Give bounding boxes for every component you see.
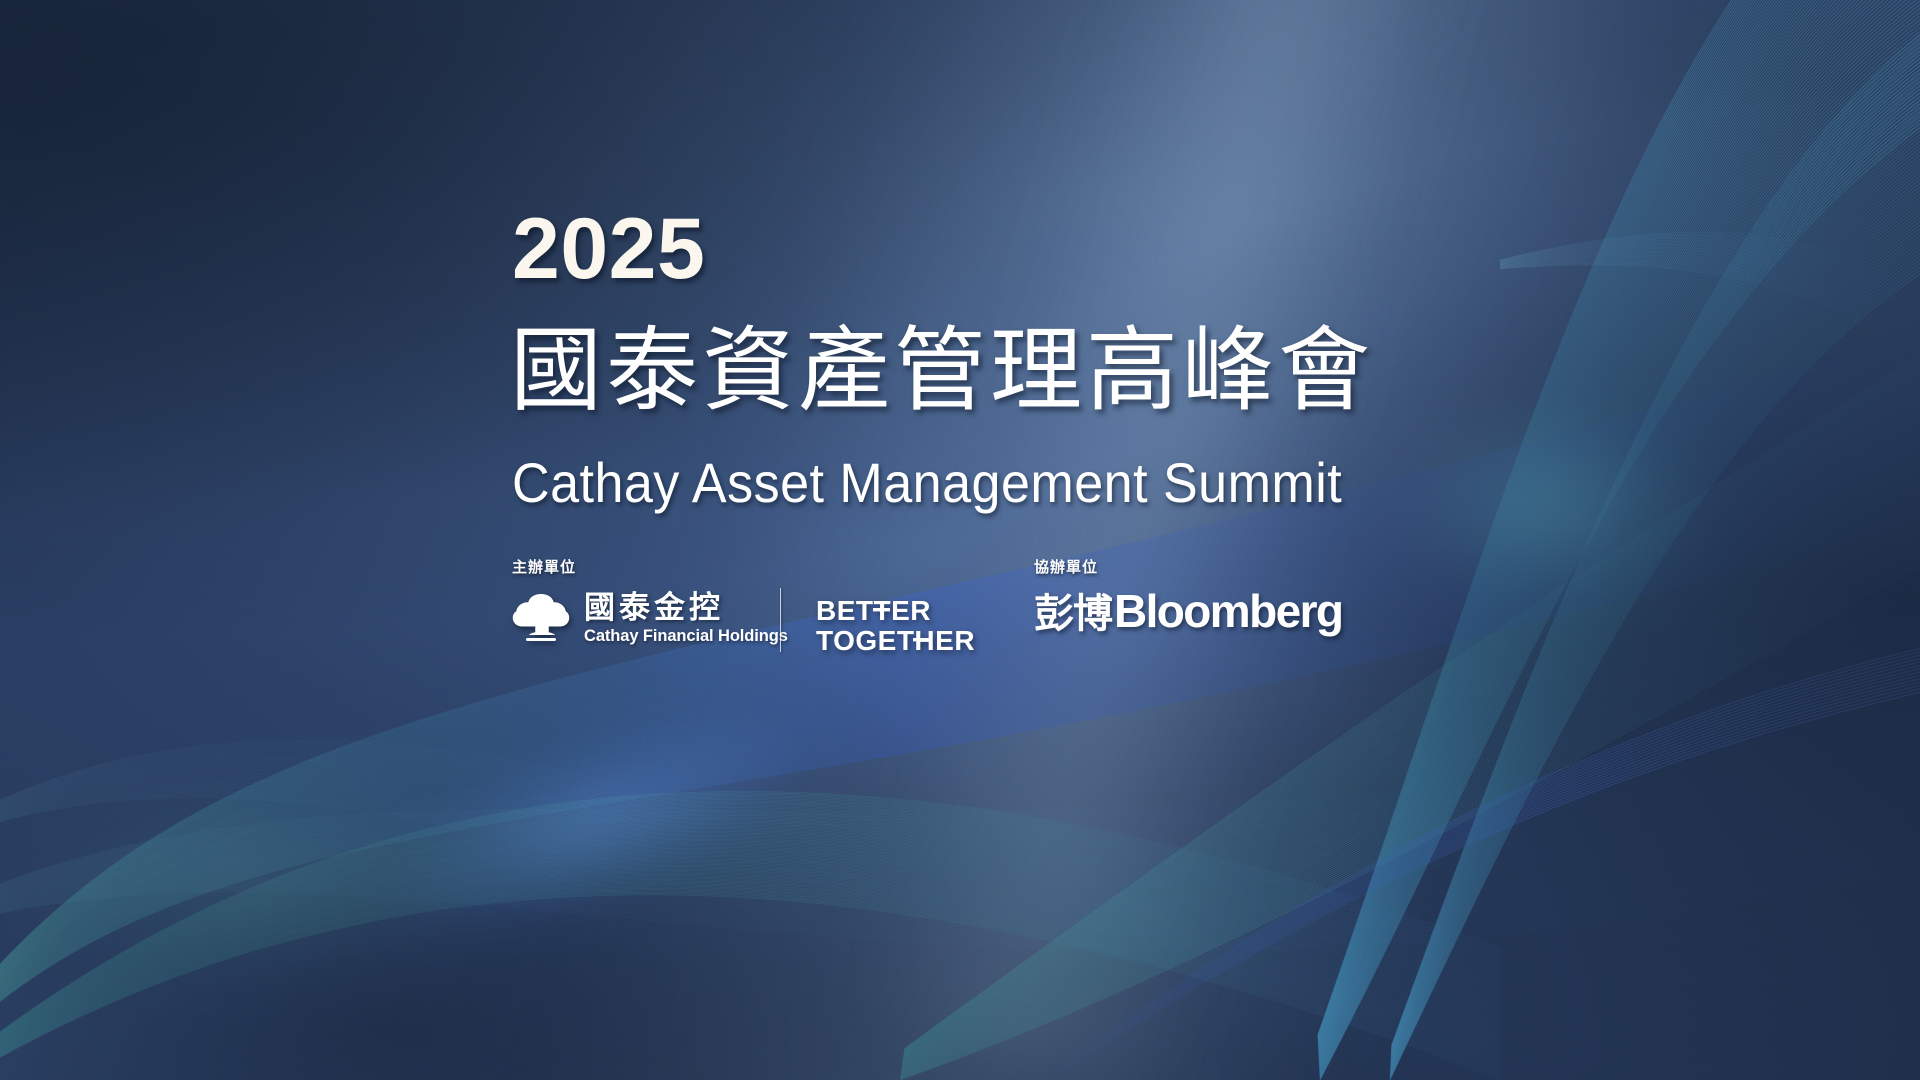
organizer-logos-row: 國泰金控 Cathay Financial Holdings BETTER TO… <box>512 592 1412 662</box>
organizer-labels: 主辦單位 協辦單位 <box>512 556 1412 578</box>
poster-content: 2025 國泰資產管理高峰會 Cathay Asset Management S… <box>512 0 1512 1080</box>
coorganizer-label: 協辦單位 <box>1034 556 1098 577</box>
bloomberg-name-english: Bloomberg <box>1114 588 1342 634</box>
poster-canvas: 2025 國泰資產管理高峰會 Cathay Asset Management S… <box>0 0 1920 1080</box>
teal-glow-left <box>0 756 576 1015</box>
bloomberg-logo: 彭博 Bloomberg <box>1034 588 1342 634</box>
better-together-slogan: BETTER TOGETHER <box>816 595 992 657</box>
organizers-section: 主辦單位 協辦單位 國泰金控 Cathay Financial Holdings <box>512 556 1412 662</box>
event-year: 2025 <box>512 206 705 292</box>
cathay-tree-icon <box>512 592 570 644</box>
cathay-logo-lockup: 國泰金控 Cathay Financial Holdings <box>512 592 788 645</box>
slogan-line-2: TOGETHER <box>816 625 975 656</box>
bloomberg-name-chinese: 彭博 <box>1034 594 1112 634</box>
event-title-english: Cathay Asset Management Summit <box>512 455 1342 511</box>
logo-divider <box>780 588 781 652</box>
event-title-chinese: 國泰資產管理高峰會 <box>510 325 1374 417</box>
cathay-name-chinese: 國泰金控 <box>584 592 788 625</box>
cathay-wordmark: 國泰金控 Cathay Financial Holdings <box>584 592 788 645</box>
cathay-name-english: Cathay Financial Holdings <box>584 627 788 645</box>
host-label: 主辦單位 <box>512 556 576 577</box>
